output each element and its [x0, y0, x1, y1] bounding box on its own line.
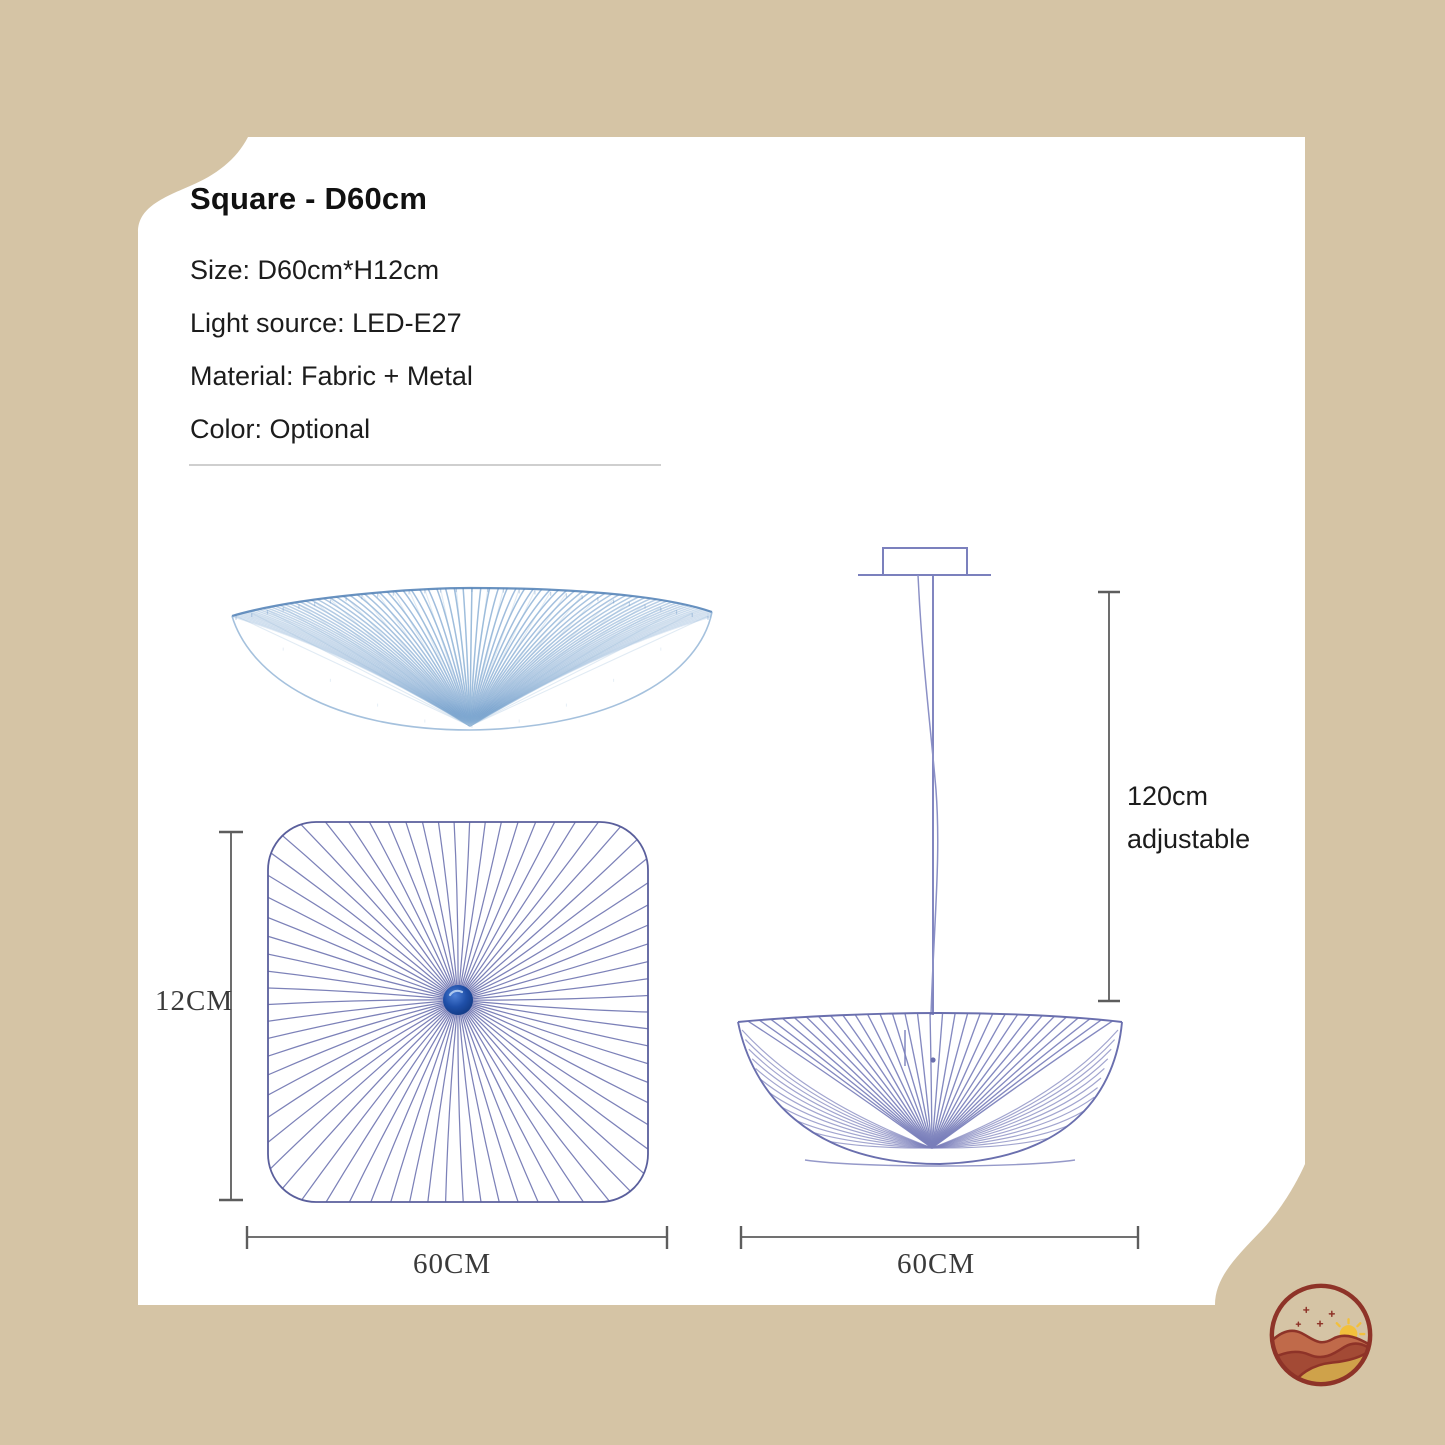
width-dimension-label-right: 60CM [897, 1248, 975, 1281]
spec-line-light-source: Light source: LED-E27 [190, 297, 750, 350]
page-title: Square - D60cm [190, 182, 750, 216]
spec-divider [189, 464, 661, 466]
spec-block: Square - D60cm Size: D60cm*H12cm Light s… [190, 182, 750, 456]
drop-dimension-label-line1: 120cm [1127, 775, 1250, 818]
product-spec-poster: Square - D60cm Size: D60cm*H12cm Light s… [0, 0, 1445, 1445]
height-dimension-label: 12CM [155, 985, 233, 1018]
drop-dimension-label-line2: adjustable [1127, 818, 1250, 861]
width-dimension-label-left: 60CM [413, 1248, 491, 1281]
desert-dunes-circle-logo [1262, 1276, 1380, 1394]
spec-line-size: Size: D60cm*H12cm [190, 244, 750, 297]
spec-line-material: Material: Fabric + Metal [190, 350, 750, 403]
spec-line-color: Color: Optional [190, 403, 750, 456]
drop-dimension-label: 120cm adjustable [1127, 775, 1250, 861]
